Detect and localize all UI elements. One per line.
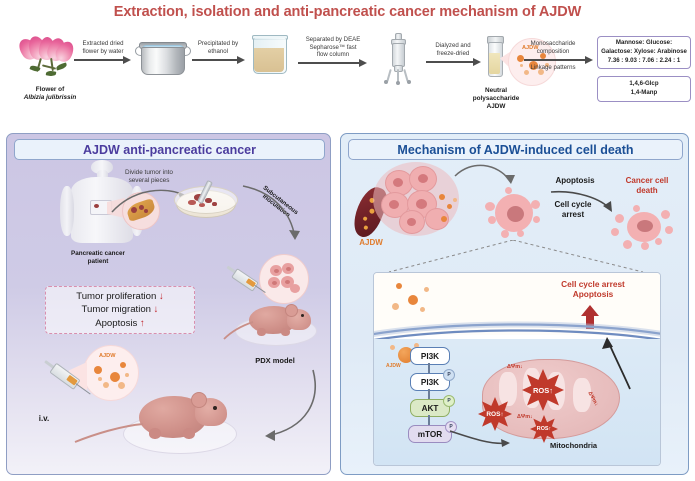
extracellular-ajdw-particle: [408, 295, 418, 305]
cascade-connector: [428, 389, 430, 399]
ajdw-small-particle: [390, 345, 395, 350]
apoptosis-label: Apoptosis: [539, 176, 611, 186]
mitochondria-label: Mitochondria: [550, 441, 597, 450]
outcome-0-text: Tumor proliferation: [76, 291, 156, 302]
cascade-connector: [428, 415, 430, 425]
monosaccharide-composition-box: Mannose: Glucose: Galactose: Xylose: Ara…: [597, 36, 691, 69]
linkage-patterns-box: 1,4,6-Glcp 1,4-Manp: [597, 76, 691, 102]
pdx-model-label: PDX model: [235, 356, 315, 365]
arrow-3: [298, 62, 360, 64]
outcome-2-text: Apoptosis: [95, 318, 137, 329]
page-title: Extraction, isolation and anti-pancreati…: [0, 4, 695, 20]
arrow-3-head: [359, 59, 367, 67]
mitochondria-to-membrane-arrow: [596, 335, 636, 393]
ros-burst-3: ROS↑: [530, 415, 558, 443]
inoculation-arrow: [239, 182, 305, 250]
extraction-workflow: Flower of Albizia julibrissin Extracted …: [0, 28, 695, 133]
patient-label: Pancreatic cancer patient: [43, 250, 153, 266]
mmp-label-2: ΔΨm↓: [517, 414, 533, 420]
extracellular-ajdw-particle: [396, 283, 402, 289]
flower-caption-line1: Flower of: [36, 86, 64, 93]
arrow-1-head: [123, 56, 131, 64]
arrow-5: [524, 59, 586, 61]
apoptotic-cell: [483, 186, 545, 244]
flower-icon: [18, 36, 80, 82]
outcomes-box: Tumor proliferation ↓ Tumor migration ↓ …: [45, 286, 195, 334]
petri-dish-with-tumor-pieces: [174, 182, 238, 222]
arrow-5-head: [585, 56, 593, 64]
phospho-badge-akt: P: [443, 395, 455, 407]
protein-pi3k-1: PI3K: [410, 347, 450, 365]
outcome-1-arrow: ↓: [154, 304, 159, 315]
neutral-polysaccharide-caption: Neutral polysaccharide AJDW: [466, 87, 526, 111]
treated-mouse-figure: [115, 380, 247, 456]
ros-burst-2: ROS↑: [522, 369, 564, 411]
extracellular-ajdw-particle: [424, 287, 429, 292]
extracellular-ajdw-particle: [392, 303, 399, 310]
arrow-2: [192, 59, 238, 61]
extracellular-ajdw-particle: [420, 307, 425, 312]
outcome-0-arrow: ↓: [159, 291, 164, 302]
cell-detail-box: Cell cycle arrest Apoptosis AJDW PI3K PI…: [373, 272, 661, 466]
arrow-1: [74, 59, 124, 61]
cancer-cell-death-label: Cancer cell death: [611, 176, 683, 196]
arrow-4-head: [473, 58, 481, 66]
arrow-label-precipitated: Precipitated by ethanol: [190, 40, 246, 55]
zoom-connector: [375, 240, 655, 276]
outcome-1-text: Tumor migration: [82, 304, 151, 315]
right-panel: Mechanism of AJDW-induced cell death AJD…: [340, 133, 689, 475]
arrow-2-head: [237, 56, 245, 64]
beaker-icon: [250, 35, 290, 79]
ros-burst-1: ROS↑: [478, 397, 512, 431]
flower-caption: Flower of Albizia julibrissin: [8, 86, 92, 102]
cascade-connector: [428, 363, 430, 373]
cellbox-outcome-label: Cell cycle arrest Apoptosis: [534, 279, 652, 300]
arrow-label-linkage: Linkage patterns: [522, 64, 584, 72]
outcome-2-arrow: ↑: [140, 318, 145, 329]
pdx-to-treatment-arrow: [251, 366, 321, 444]
arrow-label-extracted: Extracted dried flower by water: [72, 40, 134, 55]
iv-label: i.v.: [29, 414, 59, 424]
left-panel: AJDW anti-pancreatic cancer Pancreatic c…: [6, 133, 331, 475]
cooking-pot-icon: [138, 36, 186, 78]
tumor-mass-cluster: [369, 160, 463, 242]
left-panel-header: AJDW anti-pancreatic cancer: [14, 139, 325, 160]
flower-caption-line2: Albizia julibrissin: [24, 94, 77, 101]
right-panel-header: Mechanism of AJDW-induced cell death: [348, 139, 683, 160]
mmp-label-1: ΔΨm↓: [507, 364, 523, 370]
phospho-badge-pi3k: P: [443, 369, 455, 381]
ajdw-cascade-label: AJDW: [386, 363, 401, 369]
chromatography-column-icon: [378, 33, 418, 85]
arrow-label-dialyzed: Dialyzed and freeze-dried: [424, 42, 482, 57]
ajdw-circle-label: AJDW: [99, 353, 115, 359]
arrow-label-separated: Separated by DEAE Sepharose™ fast flow c…: [294, 36, 372, 59]
arrow-4: [426, 61, 474, 63]
arrow-label-monosaccharide: Monosaccharide composition: [522, 40, 584, 55]
